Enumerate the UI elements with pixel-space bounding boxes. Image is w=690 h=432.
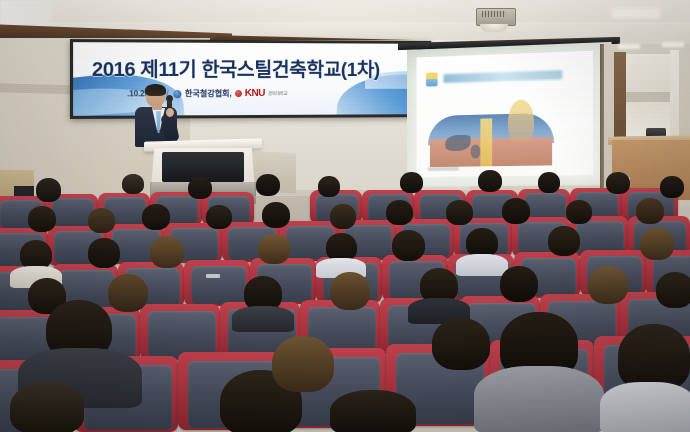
knu-acronym: KNU (245, 88, 265, 99)
projection-screen (407, 42, 612, 187)
event-banner: 2016 제11기 한국스틸건축학교(1차) .10.25(화) / 한국철강협… (73, 42, 428, 116)
attendee-head (400, 172, 423, 193)
attendee-head (88, 238, 120, 268)
attendee-head (588, 266, 628, 304)
photograph-lecture-hall: 2016 제11기 한국스틸건축학교(1차) .10.25(화) / 한국철강협… (0, 0, 690, 432)
ceiling-light-right (612, 8, 660, 18)
slide-logo-icon (426, 72, 438, 86)
attendee-head (258, 234, 290, 264)
knu-logo-icon (235, 90, 242, 97)
attendee-head (636, 198, 664, 224)
attendee-head (256, 174, 280, 196)
attendee-head (150, 236, 184, 268)
knu-full-name: 경북대학교 (268, 90, 288, 96)
seat-row3 (191, 266, 246, 304)
banner-title: 2016 제11기 한국스틸건축학교(1차) (92, 52, 415, 82)
attendee-head (606, 172, 630, 194)
booth-window-band (626, 92, 670, 102)
attendee-head (36, 178, 61, 202)
banner-frame: 2016 제11기 한국스틸건축학교(1차) .10.25(화) / 한국철강협… (70, 39, 431, 119)
microphone-head (166, 95, 173, 102)
projected-slide (417, 51, 593, 177)
banner-organizer: 한국철강협회, (185, 88, 232, 99)
attendee-head (640, 228, 674, 260)
slide-diagram (428, 113, 554, 167)
attendee-head (538, 172, 560, 193)
attendee-head-foreground (330, 390, 416, 432)
booth-lamp-left (618, 44, 640, 49)
speaker-hair (145, 84, 166, 96)
attendee-head (330, 272, 370, 310)
slide-title-text (443, 70, 562, 83)
diagram-detail-b (471, 144, 481, 158)
attendee-head (502, 198, 530, 224)
attendee-head (548, 226, 580, 256)
attendee-head (108, 274, 148, 312)
speaker-hand (166, 108, 174, 117)
attendee-shoulders-foreground (600, 382, 690, 432)
attendee-head-foreground (272, 336, 334, 392)
attendee-head-foreground (618, 324, 690, 390)
attendee-head (318, 176, 340, 197)
attendee-shoulders (456, 254, 508, 276)
attendee-head (446, 200, 473, 225)
attendee-head (656, 272, 690, 308)
attendee-head (188, 177, 212, 199)
projector-vent (482, 11, 506, 17)
attendee-head (262, 202, 290, 228)
attendee-head (122, 174, 144, 194)
booth-lamp-right (662, 42, 684, 47)
attendee-head (330, 204, 356, 229)
ceiling-light-left (0, 0, 52, 26)
projector-lens (480, 24, 508, 32)
attendee-shoulders-foreground (474, 366, 604, 432)
diagram-core (480, 118, 492, 166)
attendee-head (88, 208, 115, 233)
attendee-head (28, 206, 56, 232)
attendee-head (500, 266, 538, 302)
booth-column-light (670, 50, 679, 136)
seat-number-tag (206, 274, 220, 278)
attendee-shoulders (232, 306, 294, 332)
diagram-plume (508, 99, 534, 144)
steel-association-logo-icon (174, 90, 182, 98)
attendee-head (142, 204, 170, 230)
booth-column-wood (614, 52, 626, 142)
attendee-head-foreground (10, 382, 84, 432)
attendee-head (478, 170, 502, 192)
attendee-head (660, 176, 684, 198)
attendee-head (566, 200, 592, 224)
seat-row4 (148, 311, 216, 358)
slide-footer-text (428, 167, 459, 171)
attendee-head-foreground (432, 318, 490, 370)
attendee-head (206, 205, 232, 229)
attendee-head (386, 200, 413, 225)
attendee-head (392, 230, 425, 261)
